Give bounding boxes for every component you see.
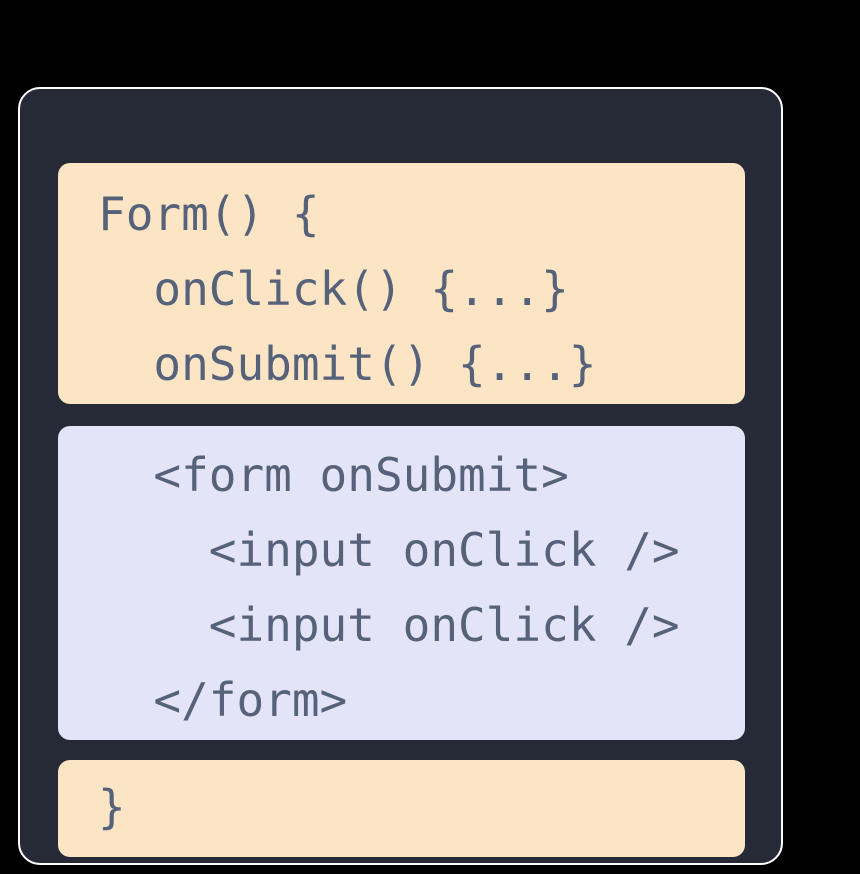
code-line: Form() { xyxy=(58,177,745,252)
code-line: <form onSubmit> xyxy=(58,438,745,513)
code-line: onSubmit() {...} xyxy=(58,327,745,402)
code-block-component-logic[interactable]: Form() { onClick() {...} onSubmit() {...… xyxy=(58,163,745,404)
diagram-stage: Form() { onClick() {...} onSubmit() {...… xyxy=(0,0,860,874)
code-line: <input onClick /> xyxy=(58,588,745,663)
code-block-component-markup[interactable]: <form onSubmit> <input onClick /> <input… xyxy=(58,426,745,740)
code-blocks-group: Form() { onClick() {...} onSubmit() {...… xyxy=(20,126,781,863)
code-line: </form> xyxy=(58,663,745,738)
code-line: onClick() {...} xyxy=(58,252,745,327)
code-line: } xyxy=(58,770,745,845)
code-block-component-closing[interactable]: } xyxy=(58,760,745,857)
code-container: Form() { onClick() {...} onSubmit() {...… xyxy=(18,87,783,865)
code-line: <input onClick /> xyxy=(58,513,745,588)
